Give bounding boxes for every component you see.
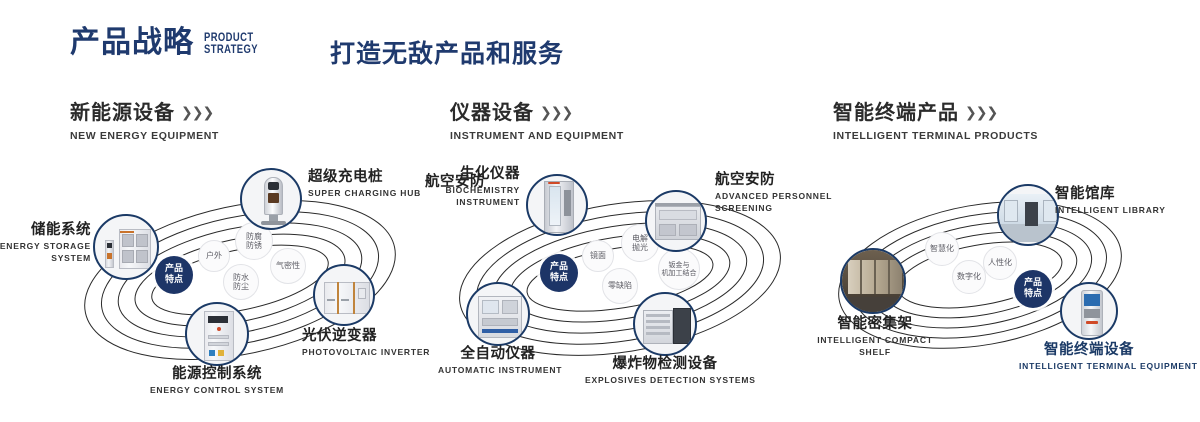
page-title-en-line1: PRODUCT [204,32,258,44]
page-title-en-line2: STRATEGY [204,44,258,56]
screening-machine-icon [647,192,705,250]
section-title-en: INTELLIGENT TERMINAL PRODUCTS [833,130,1038,142]
feature-bubble: 零缺陷 [602,268,638,304]
node-energy-storage-system[interactable] [93,214,159,280]
diagram-group-instrument: 产品 特点 镜面 电解抛光 钣金与机加工结合 零缺陷 生化仪器 BIOCHEMI… [430,160,810,400]
node-super-charging-hub[interactable] [240,168,302,230]
library-room-icon [999,186,1057,244]
section-title-en: INSTRUMENT AND EQUIPMENT [450,130,624,142]
node-explosives-detection[interactable] [633,292,697,356]
caption-intelligent-library: 智能馆库 INTELLIGENT LIBRARY [1055,186,1166,215]
battery-cabinet-icon [95,216,157,278]
self-service-kiosk-icon [1062,284,1116,338]
section-heading-instrument: 仪器设备❯❯❯ INSTRUMENT AND EQUIPMENT [450,96,624,142]
diagram-group-intelligent-terminal: 智慧化 人性化 数字化 产品 特点 智能馆库 INTELLIGENT LIBRA… [815,170,1145,390]
node-photovoltaic-inverter[interactable] [313,264,375,326]
caption-aviation-security: 航空安防 [385,174,485,191]
page-slogan: 打造无敌产品和服务 [330,34,564,70]
feature-bubble: 智慧化 [925,232,959,266]
page-title-cn: 产品战略 [70,28,194,58]
caption-energy-storage-system: 储能系统 ENERGY STORAGE SYSTEM [0,222,91,263]
feature-bubble: 数字化 [952,260,986,294]
caption-energy-control-system: 能源控制系统 ENERGY CONTROL SYSTEM [137,366,297,395]
section-title-cn: 智能终端产品❯❯❯ [833,96,1038,125]
caption-automatic-instrument: 全自动仪器 AUTOMATIC INSTRUMENT [438,346,558,375]
core-bubble-intelligent-terminal: 产品 特点 [1014,270,1052,308]
page-title: 产品战略 PRODUCT STRATEGY [70,28,270,58]
section-title-en: NEW ENERGY EQUIPMENT [70,130,219,142]
poster-canvas: 产品战略 PRODUCT STRATEGY 打造无敌产品和服务 新能源设备❯❯❯… [0,0,1200,422]
node-energy-control-system[interactable] [185,302,249,366]
node-automatic-instrument[interactable] [466,282,530,346]
caption-photovoltaic-inverter: 光伏逆变器 PHOTOVOLTAIC INVERTER [302,328,430,357]
compact-shelf-icon [842,250,904,312]
section-heading-intelligent-terminal: 智能终端产品❯❯❯ INTELLIGENT TERMINAL PRODUCTS [833,96,1038,142]
node-biochemistry-instrument[interactable] [526,174,588,236]
node-intelligent-library[interactable] [997,184,1059,246]
feature-bubble: 镜面 [582,240,614,272]
automatic-instrument-icon [468,284,528,344]
core-bubble-instrument: 产品 特点 [540,254,578,292]
feature-bubble: 人性化 [983,246,1017,280]
feature-bubble: 防水防尘 [223,264,259,300]
feature-bubble: 户外 [198,240,230,272]
control-cabinet-icon [187,304,247,364]
section-heading-new-energy: 新能源设备❯❯❯ NEW ENERGY EQUIPMENT [70,96,219,142]
section-title-cn: 仪器设备❯❯❯ [450,96,624,125]
caption-intelligent-compact-shelf: 智能密集架 INTELLIGENT COMPACT SHELF [805,316,945,357]
charging-pile-icon [242,170,300,228]
caption-explosives-detection: 爆炸物检测设备 EXPLOSIVES DETECTION SYSTEMS [585,356,745,385]
inverter-cabinet-icon [315,266,373,324]
chevron-triple-icon: ❯❯❯ [965,105,997,121]
chevron-triple-icon: ❯❯❯ [540,105,572,121]
page-title-en: PRODUCT STRATEGY [204,32,258,58]
node-intelligent-compact-shelf[interactable] [840,248,906,314]
caption-intelligent-terminal-equipment: 智能终端设备 INTELLIGENT TERMINAL EQUIPMENT [1019,342,1159,371]
chevron-triple-icon: ❯❯❯ [181,105,213,121]
section-title-cn: 新能源设备❯❯❯ [70,96,219,125]
feature-bubble: 气密性 [270,248,306,284]
node-intelligent-terminal-equipment[interactable] [1060,282,1118,340]
explosives-detector-icon [635,294,695,354]
diagram-group-new-energy: 产品 特点 户外 防腐防锈 气密性 防水防尘 储能系统 ENERGY STORA… [55,160,425,400]
biochemistry-analyzer-icon [528,176,586,234]
feature-bubble: 钣金与机加工结合 [658,248,700,290]
node-advanced-personnel-screening[interactable] [645,190,707,252]
core-bubble-new-energy: 产品 特点 [155,256,193,294]
